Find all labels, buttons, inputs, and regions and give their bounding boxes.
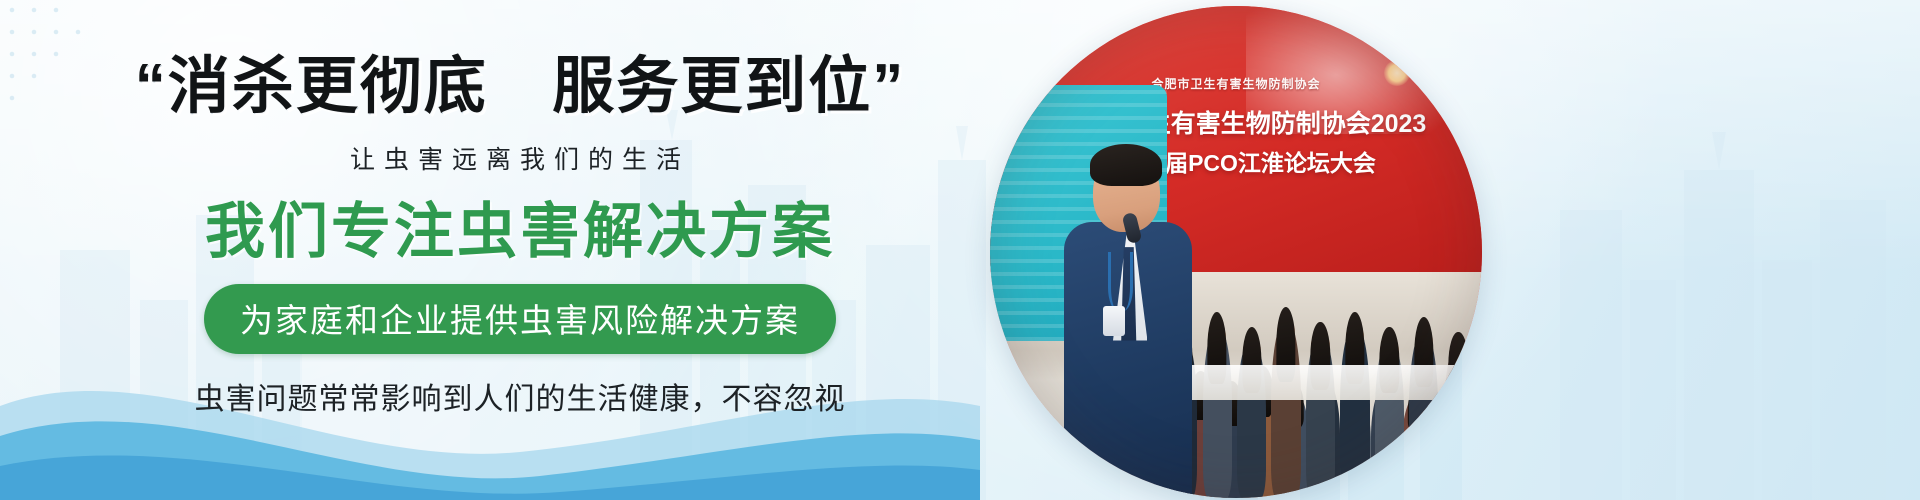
hero-banner: “消杀更彻底 服务更到位” 让虫害远离我们的生活 我们专注虫害解决方案 为家庭和… bbox=[0, 0, 1920, 500]
banner-headline: “消杀更彻底 服务更到位” bbox=[135, 56, 906, 118]
banner-pill-label[interactable]: 为家庭和企业提供虫害风险解决方案 bbox=[204, 284, 836, 354]
headline-part-left: “消杀更彻底 bbox=[135, 52, 488, 121]
banner-green-title: 我们专注虫害解决方案 bbox=[205, 202, 835, 262]
banner-subline: 让虫害远离我们的生活 bbox=[350, 140, 690, 176]
banner-tagline: 虫害问题常常影响到人们的生活健康，不容忽视 bbox=[195, 374, 846, 418]
headline-part-right: 服务更到位” bbox=[552, 52, 905, 121]
photo-vignette bbox=[990, 6, 1482, 498]
banner-copy-column: “消杀更彻底 服务更到位” 让虫害远离我们的生活 我们专注虫害解决方案 为家庭和… bbox=[0, 0, 1040, 500]
conference-photo: 合肥市卫生有害生物防制协会 合肥市卫生有害生物防制协会2023 暨第一届PCO江… bbox=[990, 6, 1482, 498]
